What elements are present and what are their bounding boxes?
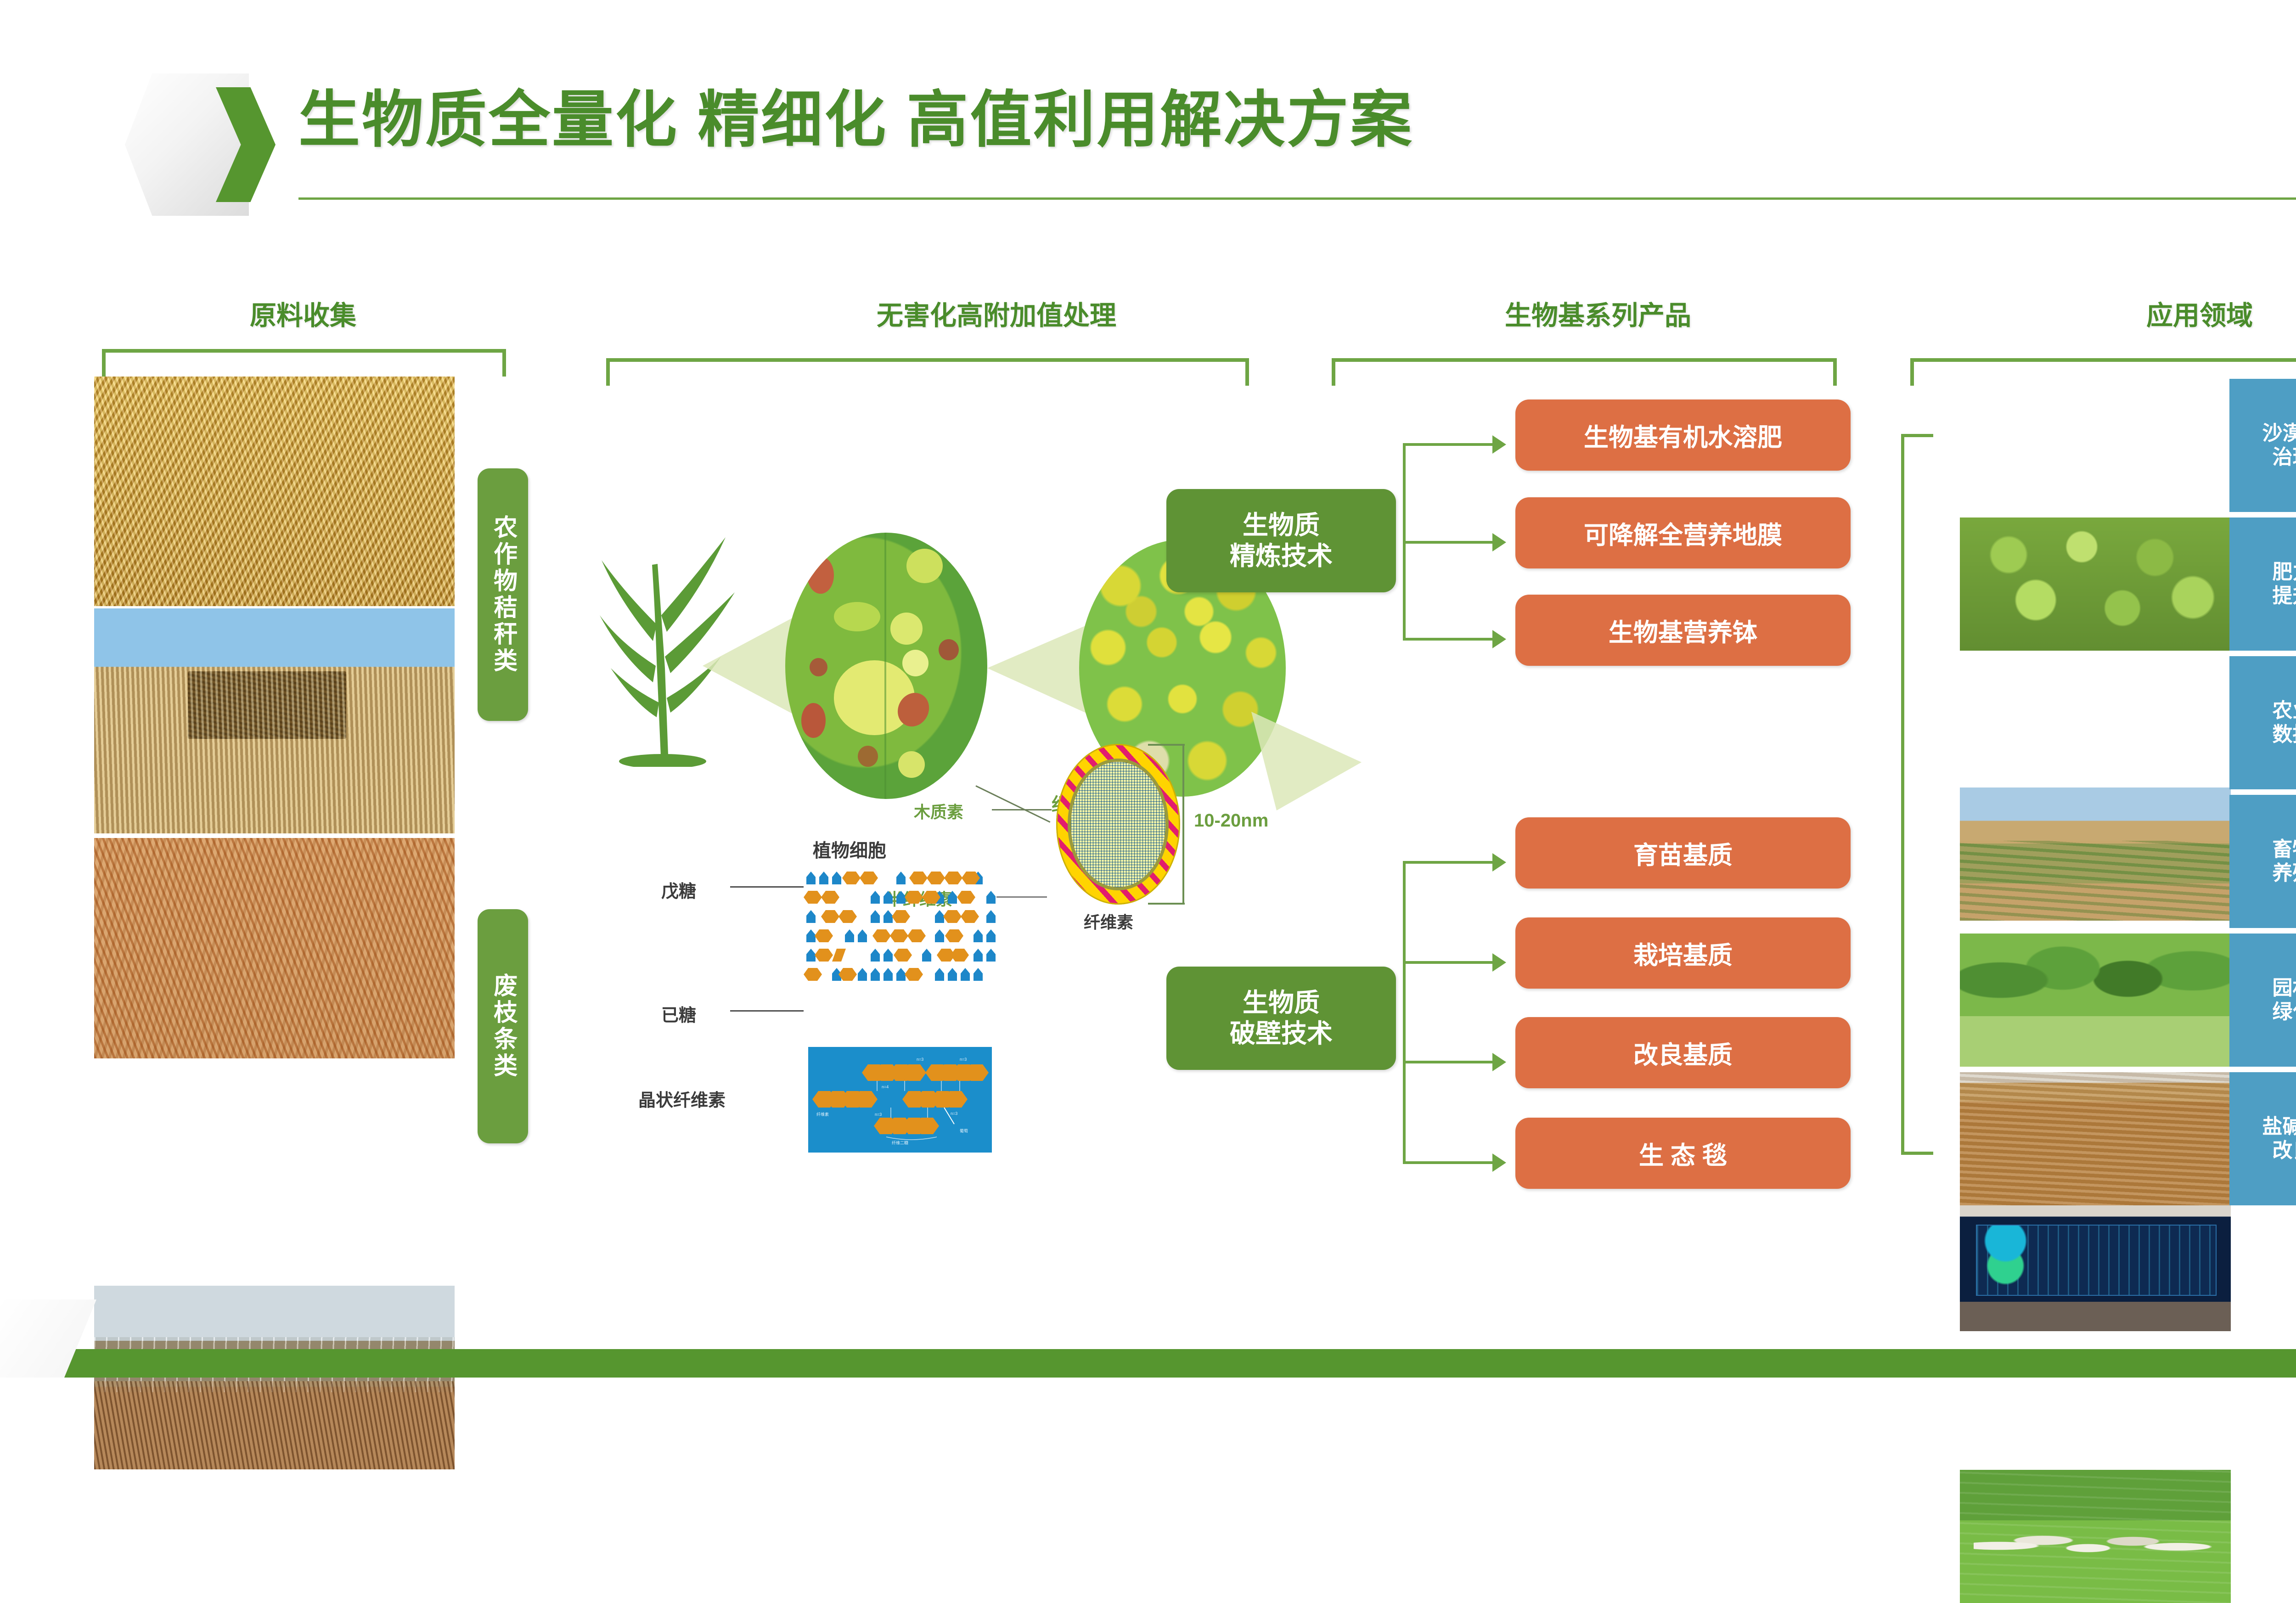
wallbreaking-arrow-3-icon <box>1492 1053 1506 1071</box>
refining-arrow-2-icon <box>1492 533 1506 551</box>
svg-text:n=3: n=3 <box>875 1112 882 1117</box>
sugar-chain-illustration <box>804 868 996 1006</box>
crystalline-cellulose-illustration: n=3n=3 n=4n=3 n=3 纤维素葡萄 纤维二糖 <box>808 1047 992 1153</box>
tech-refining-line1: 生物质 <box>1230 510 1333 540</box>
application-tile-desertification-control[interactable]: 沙漠化 治理 <box>2229 379 2296 512</box>
label-cellulose: 纤维素 <box>1084 909 1133 933</box>
corn-straw-field-photo <box>94 377 455 606</box>
raw-material-tag-crop-straw[interactable]: 农作物秸秆类 <box>478 468 528 721</box>
lignin-leader-line <box>992 809 1052 810</box>
svg-text:葡萄: 葡萄 <box>960 1128 968 1133</box>
tech-refining-line2: 精炼技术 <box>1230 541 1333 571</box>
label-hexose: 已糖 <box>661 1001 696 1026</box>
section-header-raw-material: 原料收集 <box>147 294 459 332</box>
saline-land-photo <box>1960 1072 2231 1205</box>
section-header-products: 生物基系列产品 <box>1322 294 1874 332</box>
page-title: 生物质全量化 精细化 高值利用解决方案 <box>298 85 1413 156</box>
wallbreaking-connector-branch-2 <box>1403 961 1495 964</box>
svg-text:n=3: n=3 <box>960 1057 967 1062</box>
svg-text:n=3: n=3 <box>917 1057 923 1062</box>
park-forest-photo <box>1960 934 2231 1067</box>
label-lignin: 木质素 <box>914 799 963 823</box>
refining-connector-branch-1 <box>1403 443 1495 446</box>
title-divider <box>298 197 2296 200</box>
page-header: 生物质全量化 精细化 高值利用解决方案 <box>0 0 2296 216</box>
straw-bale-field-photo <box>94 608 455 833</box>
bracket-raw-material <box>102 349 506 377</box>
hexose-leader-line <box>730 1010 804 1012</box>
application-label-desertification-control: 沙漠化 治理 <box>2262 422 2296 469</box>
dimension-tick-top <box>1148 744 1185 746</box>
label-dimension: 10-20nm <box>1194 810 1268 831</box>
wallbreaking-connector-spine <box>1403 861 1406 1164</box>
product-pill-eco-blanket[interactable]: 生 态 毯 <box>1515 1118 1851 1189</box>
application-label-fertility-improvement: 肥力 提升 <box>2273 560 2296 608</box>
footer-bar <box>0 1349 2296 1378</box>
wallbreaking-arrow-1-icon <box>1492 853 1506 872</box>
application-label-saline-land-improvement: 盐碱地 改良 <box>2262 1115 2296 1163</box>
bracket-products <box>1332 358 1837 386</box>
pentose-leader-line <box>730 886 804 888</box>
product-pill-seedling-substrate[interactable]: 育苗基质 <box>1515 817 1851 889</box>
application-tile-livestock-breeding[interactable]: 畜牧 养殖 <box>2229 795 2296 928</box>
product-pill-cultivation-substrate[interactable]: 栽培基质 <box>1515 917 1851 989</box>
product-pill-improvement-substrate[interactable]: 改良基质 <box>1515 1017 1851 1088</box>
tech-wall-breaking-line1: 生物质 <box>1230 988 1333 1018</box>
wallbreaking-connector-branch-1 <box>1403 861 1495 864</box>
application-tile-agricultural-data[interactable]: 农业 数据 <box>2229 656 2296 789</box>
section-header-processing: 无害化高附加值处理 <box>606 294 1387 332</box>
dimension-tick-bottom <box>1148 903 1185 905</box>
cabbage-field-photo <box>1960 517 2231 651</box>
pruned-branches-photo <box>94 838 455 1058</box>
refining-connector-branch-2 <box>1403 541 1495 544</box>
application-label-agricultural-data: 农业 数据 <box>2273 699 2296 747</box>
svg-text:纤维二糖: 纤维二糖 <box>892 1140 908 1145</box>
application-label-livestock-breeding: 畜牧 养殖 <box>2273 838 2296 885</box>
product-pill-degradable-mulch-film[interactable]: 可降解全营养地膜 <box>1515 497 1851 568</box>
wallbreaking-connector-branch-3 <box>1403 1061 1495 1063</box>
wallbreaking-connector-branch-4 <box>1403 1161 1495 1164</box>
application-tile-fertility-improvement[interactable]: 肥力 提升 <box>2229 517 2296 651</box>
wallbreaking-arrow-2-icon <box>1492 953 1506 972</box>
wallbreaking-arrow-4-icon <box>1492 1153 1506 1172</box>
application-label-landscaping: 园林 绿化 <box>2273 976 2296 1024</box>
tech-wall-breaking-line2: 破壁技术 <box>1230 1018 1333 1049</box>
applications-bracket <box>1901 434 1933 1155</box>
data-control-room-photo <box>1960 1198 2231 1331</box>
cell-wall-leader-line <box>975 785 1050 823</box>
magnify-cone-3-icon <box>1249 707 1364 813</box>
product-pill-water-soluble-fertilizer[interactable]: 生物基有机水溶肥 <box>1515 399 1851 471</box>
tech-button-wall-breaking[interactable]: 生物质 破壁技术 <box>1166 967 1396 1070</box>
refining-arrow-1-icon <box>1492 435 1506 454</box>
refining-arrow-3-icon <box>1492 630 1506 648</box>
svg-text:n=4: n=4 <box>882 1085 889 1089</box>
application-tile-saline-land-improvement[interactable]: 盐碱地 改良 <box>2229 1072 2296 1205</box>
plant-cell-illustration <box>785 533 987 799</box>
dimension-bracket <box>1182 744 1184 905</box>
bracket-processing <box>606 358 1249 386</box>
svg-text:n=3: n=3 <box>951 1111 957 1116</box>
fiber-cross-section-illustration <box>1056 744 1180 905</box>
magnify-cone-2-icon <box>985 615 1091 721</box>
tech-button-refining[interactable]: 生物质 精炼技术 <box>1166 489 1396 592</box>
hemicellulose-leader-line <box>996 896 1047 898</box>
sheep-grazing-photo <box>1960 1470 2231 1603</box>
label-pentose: 戊糖 <box>661 877 696 902</box>
product-pill-nutrient-pot[interactable]: 生物基营养钵 <box>1515 595 1851 666</box>
label-crystalline-cellulose: 晶状纤维素 <box>638 1086 726 1111</box>
label-plant-cell: 植物细胞 <box>813 836 886 862</box>
refining-connector-branch-3 <box>1403 638 1495 641</box>
svg-text:纤维素: 纤维素 <box>816 1112 829 1117</box>
raw-material-tag-waste-branch[interactable]: 废枝条类 <box>478 909 528 1143</box>
vineyard-pruning-photo <box>94 1286 455 1469</box>
section-header-applications: 应用领域 <box>1993 294 2296 332</box>
desert-greening-photo <box>1960 787 2231 921</box>
application-tile-landscaping[interactable]: 园林 绿化 <box>2229 934 2296 1067</box>
